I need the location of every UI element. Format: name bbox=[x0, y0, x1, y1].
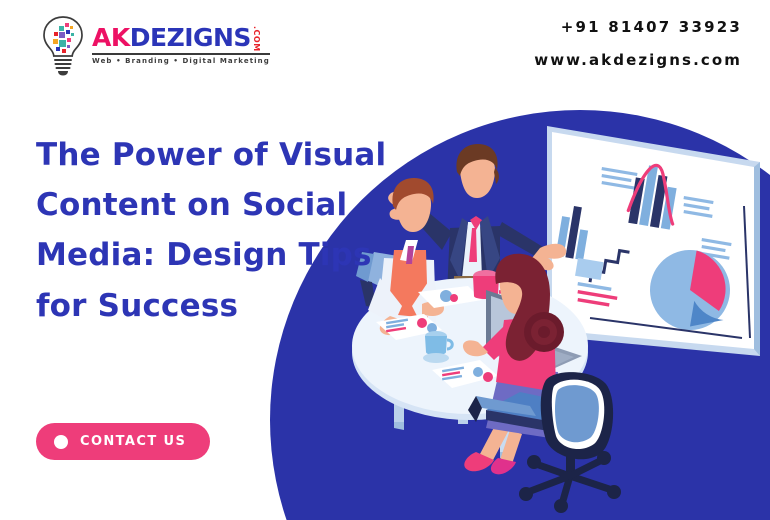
brand-logo[interactable]: AK DEZIGNS .COM Web • Branding • Digital… bbox=[40, 14, 270, 76]
page-title: The Power of Visual Content on Social Me… bbox=[36, 130, 426, 331]
phone-number[interactable]: +91 81407 33923 bbox=[534, 18, 742, 36]
logo-divider bbox=[92, 53, 270, 55]
lightbulb-pixels-icon bbox=[40, 14, 86, 76]
contact-us-button-label: CONTACT US bbox=[80, 434, 186, 449]
logo-tagline: Web • Branding • Digital Marketing bbox=[92, 57, 270, 65]
logo-text-dezigns: DEZIGNS bbox=[130, 25, 251, 50]
logo-wordmark: AK DEZIGNS .COM Web • Branding • Digital… bbox=[92, 25, 270, 66]
logo-text-com: .COM bbox=[252, 26, 260, 52]
banner-canvas: AK DEZIGNS .COM Web • Branding • Digital… bbox=[0, 0, 770, 520]
contact-info: +91 81407 33923 www.akdezigns.com bbox=[534, 18, 742, 69]
logo-text-ak: AK bbox=[92, 25, 130, 50]
header: AK DEZIGNS .COM Web • Branding • Digital… bbox=[0, 0, 770, 100]
dot-icon bbox=[54, 435, 68, 449]
contact-us-button[interactable]: CONTACT US bbox=[36, 423, 210, 460]
website-url[interactable]: www.akdezigns.com bbox=[534, 51, 742, 69]
